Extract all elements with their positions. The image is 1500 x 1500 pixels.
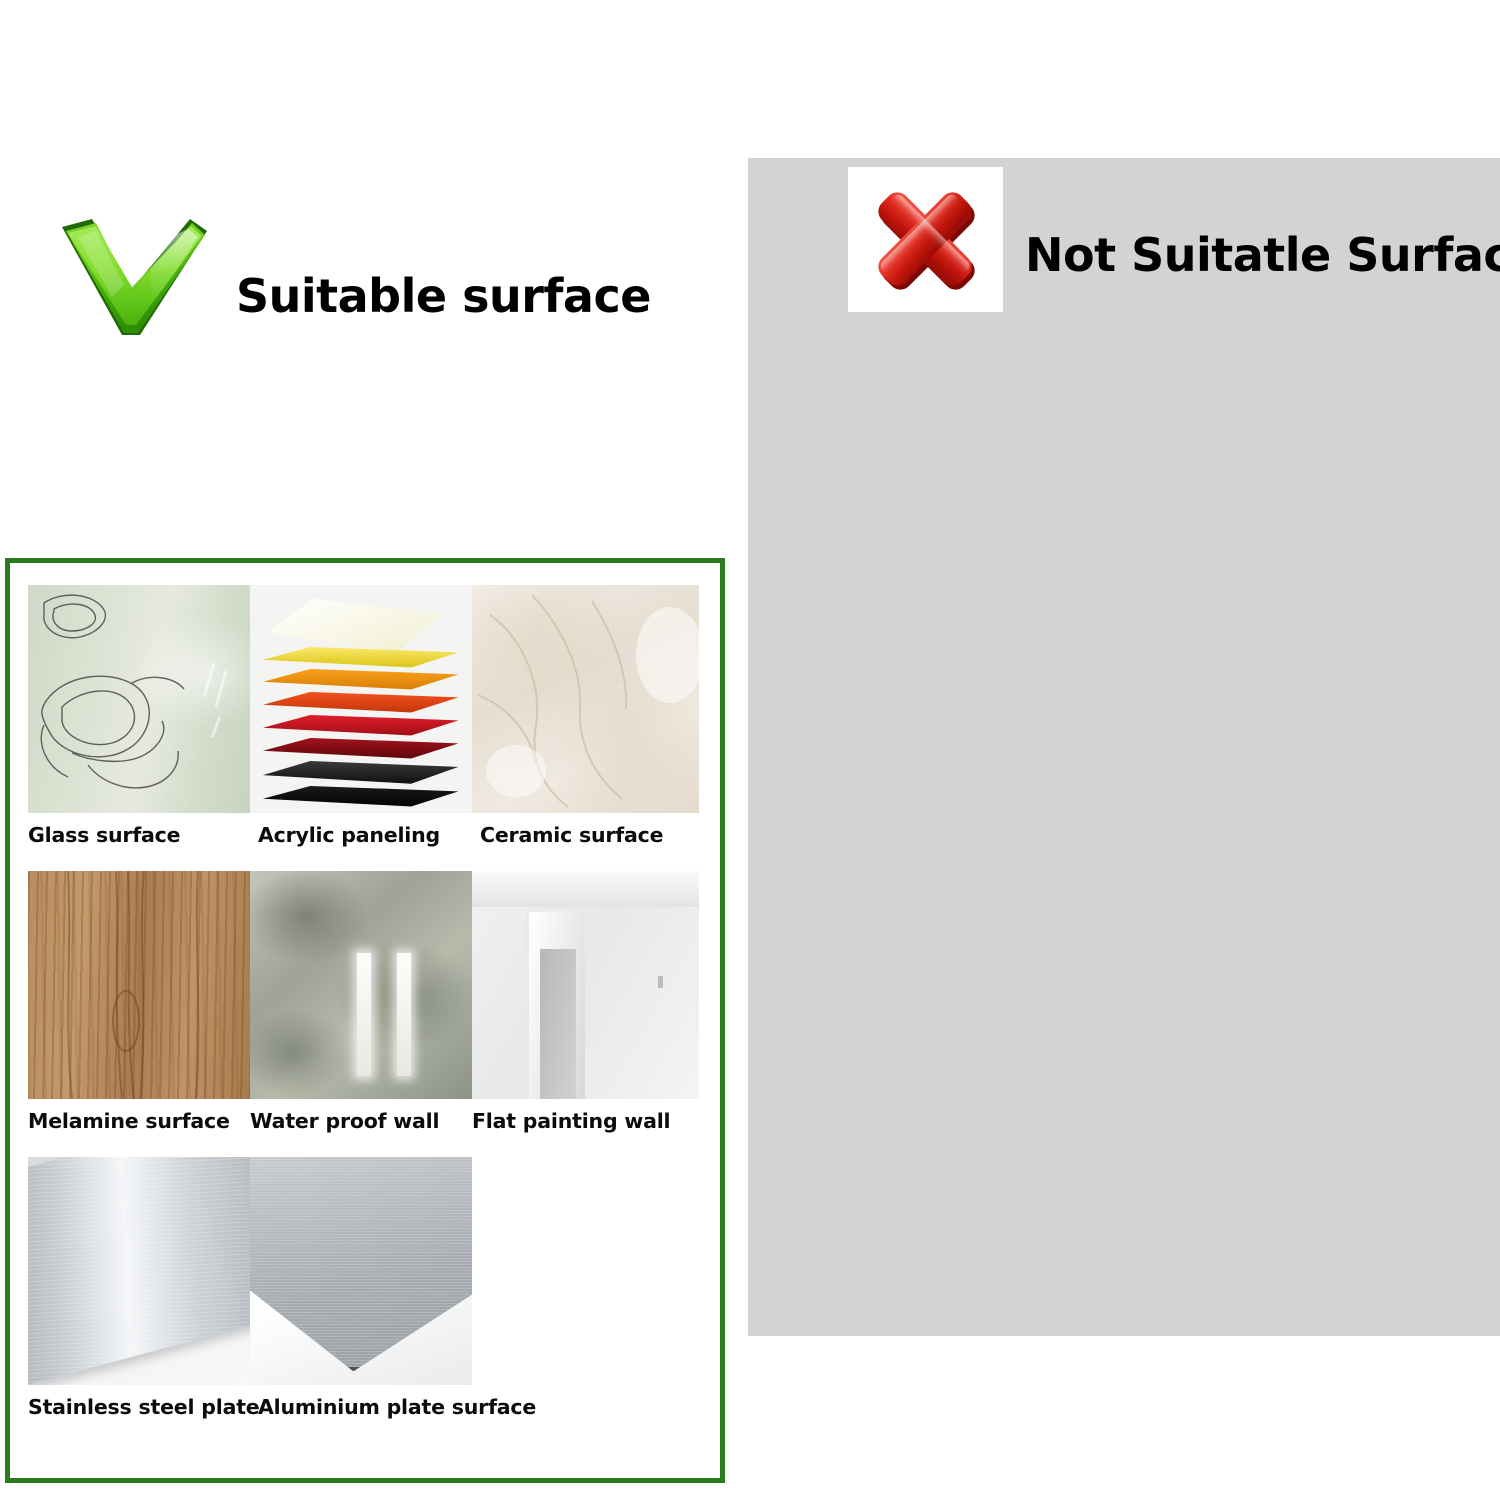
suitable-surface-panel: Suitable surface: [0, 190, 740, 368]
caption-acrylic: Acrylic paneling: [258, 825, 480, 846]
ceramic-surface-image: [472, 585, 699, 813]
caption-row: Stainless steel plate Aluminium plate su…: [28, 1385, 707, 1427]
caption-stainless: Stainless steel plate: [28, 1397, 258, 1418]
right-panel-background: [748, 158, 1500, 1336]
surface-cell-melamine[interactable]: [28, 871, 250, 1099]
grid-row: [28, 585, 707, 813]
caption-ceramic: Ceramic surface: [480, 825, 707, 846]
caption-row: Melamine surface Water proof wall Flat p…: [28, 1099, 707, 1141]
caption-flatwall: Flat painting wall: [472, 1111, 699, 1132]
melamine-surface-image: [28, 871, 250, 1099]
stainless-steel-plate-image: [28, 1157, 250, 1385]
surface-cell-flatwall[interactable]: [472, 871, 699, 1099]
caption-glass: Glass surface: [28, 825, 258, 846]
surface-cell-glass[interactable]: [28, 585, 250, 813]
caption-melamine: Melamine surface: [28, 1111, 250, 1132]
suitable-surface-title: Suitable surface: [236, 269, 651, 323]
surface-cell-waterproof[interactable]: [250, 871, 472, 1099]
infographic-canvas: Suitable surface: [0, 0, 1500, 1500]
not-suitable-surface-header: Not Suitatle Surface: [770, 150, 1500, 328]
not-suitable-surface-panel: Not Suitatle Surface: [770, 150, 1500, 328]
green-check-icon: [52, 217, 212, 342]
surface-cell-stainless[interactable]: [28, 1157, 250, 1385]
flat-painting-wall-image: [472, 871, 699, 1099]
glass-surface-image: [28, 585, 250, 813]
suitable-surface-grid: Glass surface Acrylic paneling Ceramic s…: [28, 585, 707, 1427]
water-proof-wall-image: [250, 871, 472, 1099]
surface-cell-aluminium[interactable]: [250, 1157, 472, 1385]
aluminium-plate-surface-image: [250, 1157, 472, 1385]
suitable-surface-box: Glass surface Acrylic paneling Ceramic s…: [5, 558, 725, 1483]
red-x-icon: [848, 167, 1003, 312]
acrylic-paneling-image: [250, 585, 472, 813]
grid-row: [28, 871, 707, 1099]
caption-row: Glass surface Acrylic paneling Ceramic s…: [28, 813, 707, 855]
surface-cell-acrylic[interactable]: [250, 585, 472, 813]
caption-aluminium: Aluminium plate surface: [258, 1397, 538, 1418]
not-suitable-surface-title: Not Suitatle Surface: [1025, 228, 1500, 282]
grid-row: [28, 1157, 707, 1385]
suitable-surface-header: Suitable surface: [0, 190, 740, 368]
caption-waterproof: Water proof wall: [250, 1111, 472, 1132]
surface-cell-ceramic[interactable]: [472, 585, 699, 813]
